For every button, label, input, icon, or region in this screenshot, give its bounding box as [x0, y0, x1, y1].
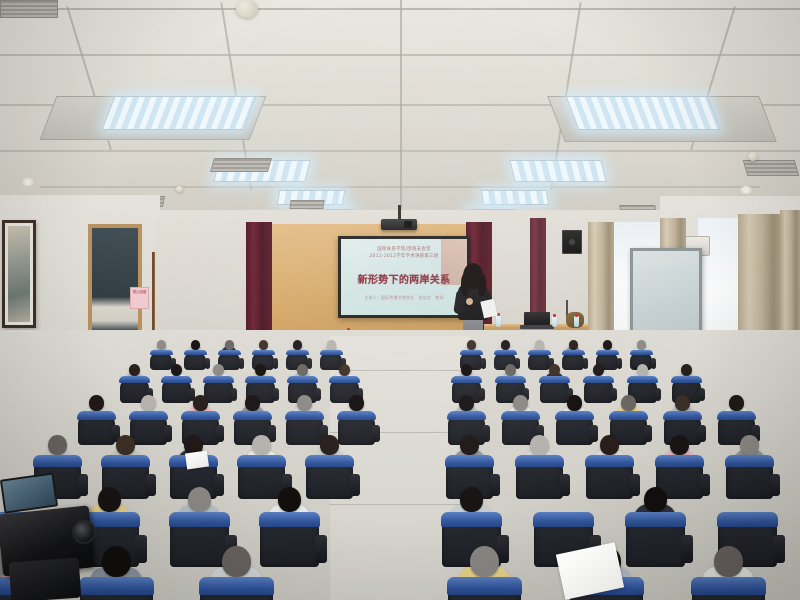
audience-member-head	[670, 435, 688, 455]
seat-cushion-top	[237, 455, 286, 467]
seat-armrest	[655, 388, 661, 402]
ceiling-air-vent	[0, 0, 58, 18]
audience-member-head	[98, 487, 121, 512]
audience-member-head	[600, 435, 618, 455]
slide-title: 新形势下的两岸关系	[341, 271, 467, 286]
audience-member-head	[740, 435, 758, 455]
seat-cushion-top	[717, 411, 755, 420]
framed-artwork	[2, 220, 36, 328]
audience-member-head	[188, 487, 211, 512]
seat-cushion-top	[539, 376, 569, 383]
seat-cushion-top	[287, 376, 317, 383]
seat-armrest	[698, 425, 706, 442]
seat-cushion-top	[259, 512, 320, 527]
audience-member-head	[297, 395, 312, 411]
seat-cushion-top	[630, 350, 653, 356]
stage-curtain-left	[246, 222, 272, 344]
seat-armrest	[135, 535, 148, 562]
audience-member-head	[470, 546, 499, 577]
audience-member-head	[467, 340, 476, 350]
seat-cushion-top	[79, 577, 154, 595]
audience-member-head	[729, 395, 744, 411]
handout-paper	[185, 451, 209, 470]
audience-member-head	[48, 435, 66, 455]
seat-cushion-top	[337, 411, 375, 420]
seat-armrest	[681, 535, 694, 562]
wall-speaker-right	[562, 230, 582, 254]
seat-cushion-top	[286, 350, 309, 356]
water-bottle	[496, 315, 501, 327]
lecture-hall-photo: 禁止吸烟 国际关系学院/邵逸夫会堂 2011-2012学年学术讲座第三场 新形势…	[0, 0, 800, 600]
seat-cushion-top	[199, 577, 274, 595]
seat-armrest	[617, 358, 622, 368]
audience-member-head	[569, 340, 578, 350]
seat-armrest	[315, 535, 328, 562]
seat-cushion-top	[663, 411, 701, 420]
slide-header-line-2: 2011-2012学年学术讲座第三场	[341, 253, 467, 259]
audience-member-head	[714, 546, 743, 577]
seat-armrest	[590, 425, 598, 442]
seat-armrest	[372, 425, 380, 442]
audience-member-head	[171, 364, 182, 376]
artwork-image	[8, 226, 30, 322]
seat-armrest	[560, 474, 570, 496]
seat-cushion-top	[691, 577, 766, 595]
seat-cushion-top	[101, 455, 150, 467]
seat-armrest	[773, 535, 786, 562]
seat-cushion-top	[285, 411, 323, 420]
slide-header-line-1: 国际关系学院/邵逸夫会堂	[341, 246, 467, 252]
audience-member-head	[681, 364, 692, 376]
seat-armrest	[315, 388, 321, 402]
seat-armrest	[482, 425, 490, 442]
seat-cushion-top	[329, 376, 359, 383]
seat-cushion-top	[596, 350, 619, 356]
audience-member-head	[293, 340, 302, 350]
window-curtain-left	[588, 222, 614, 342]
seat-armrest	[214, 474, 224, 496]
seat-cushion-top	[495, 376, 525, 383]
presenter-laptop	[524, 312, 550, 326]
audience-member-head	[225, 340, 234, 350]
water-bottle	[552, 316, 557, 327]
ceiling-light-panel	[101, 96, 256, 130]
audience-member-head	[193, 395, 208, 411]
camcorder-grip	[9, 558, 82, 600]
audience-member-head	[339, 364, 350, 376]
seat-cushion-top	[655, 455, 704, 467]
seat-cushion-top	[245, 376, 275, 383]
seat-armrest	[651, 358, 656, 368]
seat-cushion-top	[77, 411, 115, 420]
seat-armrest	[490, 474, 500, 496]
audience-member-head	[461, 364, 472, 376]
seat-cushion-top	[494, 350, 517, 356]
audience-member-head	[675, 395, 690, 411]
seat-armrest	[644, 425, 652, 442]
ceiling-light-panel	[565, 96, 720, 130]
ceiling-light-panel	[509, 160, 606, 182]
seat-cushion-top	[119, 376, 149, 383]
audience-member-head	[116, 435, 134, 455]
seat-armrest	[239, 358, 244, 368]
seat-cushion-top	[627, 376, 657, 383]
audience-member-head	[255, 364, 266, 376]
speaker-hand	[466, 298, 473, 305]
seat-cushion-top	[447, 577, 522, 595]
seat-cushion-top	[203, 376, 233, 383]
slide-subtitle: 主讲人：国际传播学院院长 张佳言 教授	[341, 295, 467, 301]
seat-cushion-top	[717, 512, 778, 527]
seat-cushion-top	[447, 411, 485, 420]
audience-member-head	[513, 395, 528, 411]
sprinkler-head	[176, 186, 183, 192]
audience-member-head	[460, 435, 478, 455]
seat-armrest	[611, 388, 617, 402]
audience-member-head	[278, 487, 301, 512]
audience-member-head	[637, 364, 648, 376]
audience-member-head	[102, 546, 131, 577]
audience-member-head	[327, 340, 336, 350]
seat-armrest	[700, 474, 710, 496]
seat-cushion-top	[233, 411, 271, 420]
speaker-hair	[463, 263, 483, 289]
seat-cushion-top	[515, 455, 564, 467]
seat-armrest	[350, 474, 360, 496]
seat-armrest	[481, 358, 486, 368]
audience-member-head	[637, 340, 646, 350]
seat-cushion-top	[150, 350, 173, 356]
seat-cushion-top	[609, 411, 647, 420]
seat-cushion-top	[129, 411, 167, 420]
water-bottle	[574, 316, 579, 327]
projection-screen: 国际关系学院/邵逸夫会堂 2011-2012学年学术讲座第三场 新形势下的两岸关…	[338, 236, 470, 318]
seat-cushion-top	[445, 455, 494, 467]
audience-member-head	[320, 435, 338, 455]
audience-member-head	[530, 435, 548, 455]
audience-member-head	[157, 340, 166, 350]
audience-member-head	[535, 340, 544, 350]
audience-member-head	[245, 395, 260, 411]
audience-member-head	[644, 487, 667, 512]
seat-armrest	[479, 388, 485, 402]
audience-member-head	[505, 364, 516, 376]
seat-cushion-top	[218, 350, 241, 356]
seat-cushion-top	[441, 512, 502, 527]
seat-cushion-top	[583, 376, 613, 383]
door-sign-text: 禁止吸烟	[131, 288, 148, 297]
seat-cushion-top	[501, 411, 539, 420]
seat-cushion-top	[671, 376, 701, 383]
seat-armrest	[699, 388, 705, 402]
seat-cushion-top	[169, 512, 230, 527]
audience-member-head	[603, 340, 612, 350]
seat-cushion-top	[252, 350, 275, 356]
seat-armrest	[205, 358, 210, 368]
seat-armrest	[216, 425, 224, 442]
seat-armrest	[770, 474, 780, 496]
audience-member-head	[213, 364, 224, 376]
audience-member-head	[89, 395, 104, 411]
seat-armrest	[273, 358, 278, 368]
audience-member-head	[222, 546, 251, 577]
seat-cushion-top	[725, 455, 774, 467]
seat-armrest	[146, 474, 156, 496]
audience-member-head	[297, 364, 308, 376]
seat-cushion-top	[625, 512, 686, 527]
seat-armrest	[630, 474, 640, 496]
audience-member-head	[567, 395, 582, 411]
seat-cushion-top	[585, 455, 634, 467]
seat-cushion-top	[33, 455, 82, 467]
recessed-downlight	[740, 186, 752, 194]
audience-member-head	[549, 364, 560, 376]
audience-member-head	[129, 364, 140, 376]
audience-member-head	[141, 395, 156, 411]
audience-member-head	[349, 395, 364, 411]
seat-cushion-top	[555, 411, 593, 420]
seat-armrest	[273, 388, 279, 402]
audience-member-head	[460, 487, 483, 512]
seat-cushion-top	[528, 350, 551, 356]
audience	[0, 330, 800, 600]
projector-lens-icon	[404, 221, 412, 228]
audience-member-head	[593, 364, 604, 376]
seat-cushion-top	[562, 350, 585, 356]
seat-armrest	[231, 388, 237, 402]
seat-cushion-top	[161, 376, 191, 383]
audience-member-head	[501, 340, 510, 350]
ceiling-light-panel	[481, 190, 550, 205]
ceiling-air-vent	[210, 158, 272, 172]
seat-cushion-top	[451, 376, 481, 383]
seat-cushion-top	[184, 350, 207, 356]
seat-cushion-top	[320, 350, 343, 356]
audience-member-head	[459, 395, 474, 411]
seat-armrest	[164, 425, 172, 442]
seat-cushion-top	[305, 455, 354, 467]
sprinkler-head	[748, 152, 758, 161]
audience-member-head	[252, 435, 270, 455]
door-sign: 禁止吸烟	[130, 287, 149, 309]
seat-armrest	[583, 358, 588, 368]
seat-cushion-top	[181, 411, 219, 420]
ceiling-air-vent	[289, 200, 324, 209]
seat-cushion-top	[533, 512, 594, 527]
seat-armrest	[78, 474, 88, 496]
recessed-downlight	[22, 178, 34, 186]
audience-member-head	[191, 340, 200, 350]
audience-member-head	[621, 395, 636, 411]
audience-member-head	[259, 340, 268, 350]
sprinkler-head	[236, 0, 258, 18]
ceiling-air-vent	[743, 160, 800, 176]
laptop-base	[520, 325, 554, 329]
seat-cushion-top	[460, 350, 483, 356]
